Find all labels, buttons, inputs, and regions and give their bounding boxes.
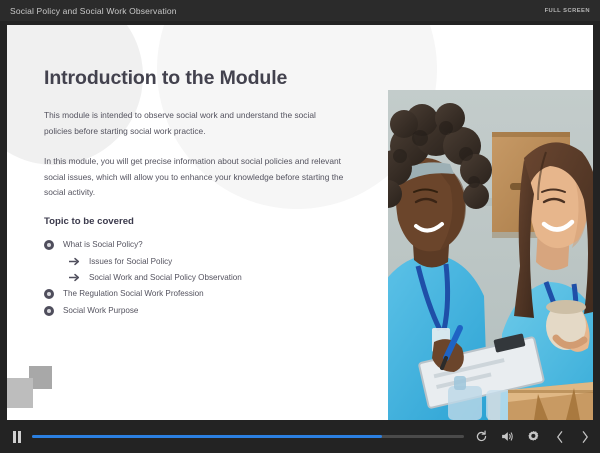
settings-gear-icon	[527, 430, 540, 443]
list-item: The Regulation Social Work Profession	[44, 289, 364, 299]
topic-label: The Regulation Social Work Profession	[63, 289, 204, 299]
pause-bar-left	[13, 431, 16, 443]
fullscreen-button[interactable]: FULL SCREEN	[545, 8, 590, 14]
course-player: Social Policy and Social Work Observatio…	[0, 0, 600, 453]
photo-illustration	[388, 90, 593, 420]
progress-track[interactable]	[32, 435, 464, 438]
slide-paragraph-2: In this module, you will get precise inf…	[44, 154, 351, 201]
replay-button[interactable]	[468, 420, 494, 453]
topics-list: What is Social Policy? Issues for Social…	[44, 240, 364, 316]
list-item: Issues for Social Policy	[69, 257, 364, 267]
list-item: Social Work Purpose	[44, 306, 364, 316]
previous-button[interactable]	[546, 420, 572, 453]
chevron-right-icon	[580, 430, 591, 444]
topics-heading: Topic to be covered	[44, 216, 364, 227]
circle-bullet-icon	[44, 240, 54, 250]
circle-bullet-icon	[44, 289, 54, 299]
volume-button[interactable]	[494, 420, 520, 453]
slide-stage: Introduction to the Module This module i…	[7, 25, 593, 420]
arrow-bullet-icon	[69, 273, 80, 283]
topic-label: What is Social Policy?	[63, 240, 143, 250]
list-item: Social Work and Social Policy Observatio…	[69, 273, 364, 283]
topic-label: Issues for Social Policy	[89, 257, 172, 267]
slide-photo	[388, 90, 593, 420]
settings-button[interactable]	[520, 420, 546, 453]
volume-icon	[500, 430, 514, 443]
course-title: Social Policy and Social Work Observatio…	[10, 6, 177, 16]
player-controls	[0, 420, 600, 453]
circle-bullet-icon	[44, 306, 54, 316]
replay-icon	[475, 430, 488, 443]
control-icon-group	[468, 420, 598, 453]
slide-paragraph-1: This module is intended to observe socia…	[44, 108, 344, 139]
progress-bar[interactable]	[32, 420, 464, 453]
progress-fill	[32, 435, 382, 438]
slide-content: Introduction to the Module This module i…	[44, 67, 364, 323]
decorative-square-light	[7, 378, 33, 408]
pause-button[interactable]	[6, 420, 28, 453]
slide-title: Introduction to the Module	[44, 67, 364, 90]
topic-label: Social Work and Social Policy Observatio…	[89, 273, 242, 283]
list-item: What is Social Policy?	[44, 240, 364, 250]
arrow-bullet-icon	[69, 257, 80, 267]
topic-label: Social Work Purpose	[63, 306, 138, 316]
pause-bar-right	[18, 431, 21, 443]
next-button[interactable]	[572, 420, 598, 453]
chevron-left-icon	[554, 430, 565, 444]
player-topbar: Social Policy and Social Work Observatio…	[0, 0, 600, 21]
